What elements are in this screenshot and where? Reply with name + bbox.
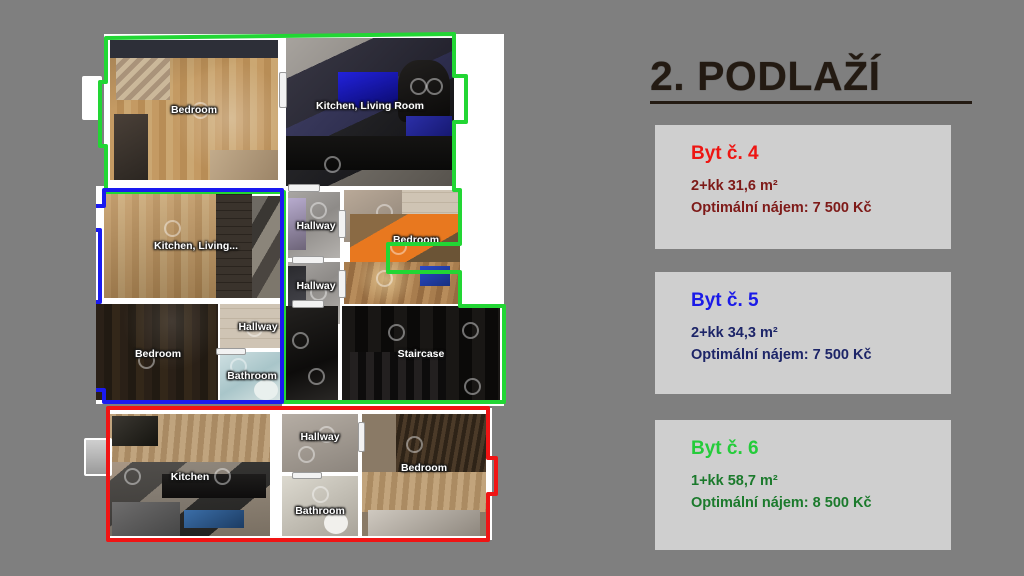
title-underline <box>650 101 972 104</box>
room-kitchen-living-blue[interactable] <box>104 194 216 298</box>
room-kitchen-living-top-right[interactable]: Kitchen, Living Room <box>286 38 454 186</box>
room-bedroom-green-right[interactable] <box>350 214 460 262</box>
info-panel: 2. PODLAŽÍ Byt č. 4 2+kk 31,6 m² Optimál… <box>645 40 985 550</box>
apartment-card-rent: Optimální nájem: 8 500 Kč <box>691 492 951 514</box>
room-hallway-blue[interactable] <box>220 304 284 348</box>
viewpoint-dot <box>310 202 327 219</box>
apartment-card-layout: 2+kk 31,6 m² <box>691 175 951 197</box>
viewpoint-dot <box>308 368 325 385</box>
viewpoint-dot <box>246 320 263 337</box>
door-symbol <box>358 422 365 452</box>
apartment-card-layout: 1+kk 58,7 m² <box>691 470 951 492</box>
room-bedroom-red[interactable]: Bedroom <box>362 414 486 536</box>
viewpoint-dot <box>388 324 405 341</box>
apartment-card-layout: 2+kk 34,3 m² <box>691 322 951 344</box>
room-kitchen-red[interactable]: Kitchen <box>110 414 270 536</box>
viewpoint-dot <box>390 238 407 255</box>
room-dark-mid[interactable] <box>286 306 338 402</box>
door-symbol <box>292 256 324 264</box>
door-symbol <box>279 72 287 108</box>
door-symbol <box>292 472 322 479</box>
door-symbol <box>82 76 102 120</box>
viewpoint-dot <box>292 332 309 349</box>
floorplan-canvas: Bedroom Kitchen, Living Room <box>96 24 536 552</box>
floorplan-image: Bedroom Kitchen, Living Room <box>0 0 600 576</box>
room-bedroom-green-floor[interactable] <box>344 262 460 304</box>
page-title: 2. PODLAŽÍ <box>650 56 975 97</box>
apartment-card-title: Byt č. 4 <box>691 142 951 166</box>
room-staircase[interactable]: Staircase <box>342 306 500 402</box>
door-symbol <box>288 184 320 192</box>
door-symbol <box>84 438 112 476</box>
door-symbol <box>216 348 246 355</box>
viewpoint-dot <box>310 284 327 301</box>
apartment-card-byt-5[interactable]: Byt č. 5 2+kk 34,3 m² Optimální nájem: 7… <box>655 272 951 394</box>
apartment-card-byt-6[interactable]: Byt č. 6 1+kk 58,7 m² Optimální nájem: 8… <box>655 420 951 550</box>
viewpoint-dot <box>464 378 481 395</box>
door-symbol <box>292 300 324 308</box>
apartment-card-byt-4[interactable]: Byt č. 4 2+kk 31,6 m² Optimální nájem: 7… <box>655 125 951 249</box>
room-bathroom-red[interactable]: Bathroom <box>282 476 358 536</box>
room-hallway-red[interactable]: Hallway <box>282 414 358 472</box>
room-bedroom-top-left[interactable]: Bedroom <box>110 40 278 180</box>
apartment-card-title: Byt č. 6 <box>691 437 951 461</box>
room-bedroom-blue[interactable] <box>96 304 218 400</box>
title-block: 2. PODLAŽÍ <box>650 56 975 104</box>
room-hallway-mid-upper[interactable] <box>288 192 340 258</box>
apartment-card-rent: Optimální nájem: 7 500 Kč <box>691 197 951 219</box>
door-symbol <box>338 270 346 298</box>
door-symbol <box>338 210 346 238</box>
viewpoint-dot <box>462 322 479 339</box>
room-kitchen-blue-storage[interactable] <box>252 196 284 298</box>
room-kitchen-blue-tiles[interactable] <box>216 194 252 298</box>
apartment-card-title: Byt č. 5 <box>691 289 951 313</box>
slide-root: Bedroom Kitchen, Living Room <box>0 0 1024 576</box>
room-bathroom-blue[interactable] <box>220 352 284 402</box>
viewpoint-dot <box>230 358 247 375</box>
apartment-card-rent: Optimální nájem: 7 500 Kč <box>691 344 951 366</box>
